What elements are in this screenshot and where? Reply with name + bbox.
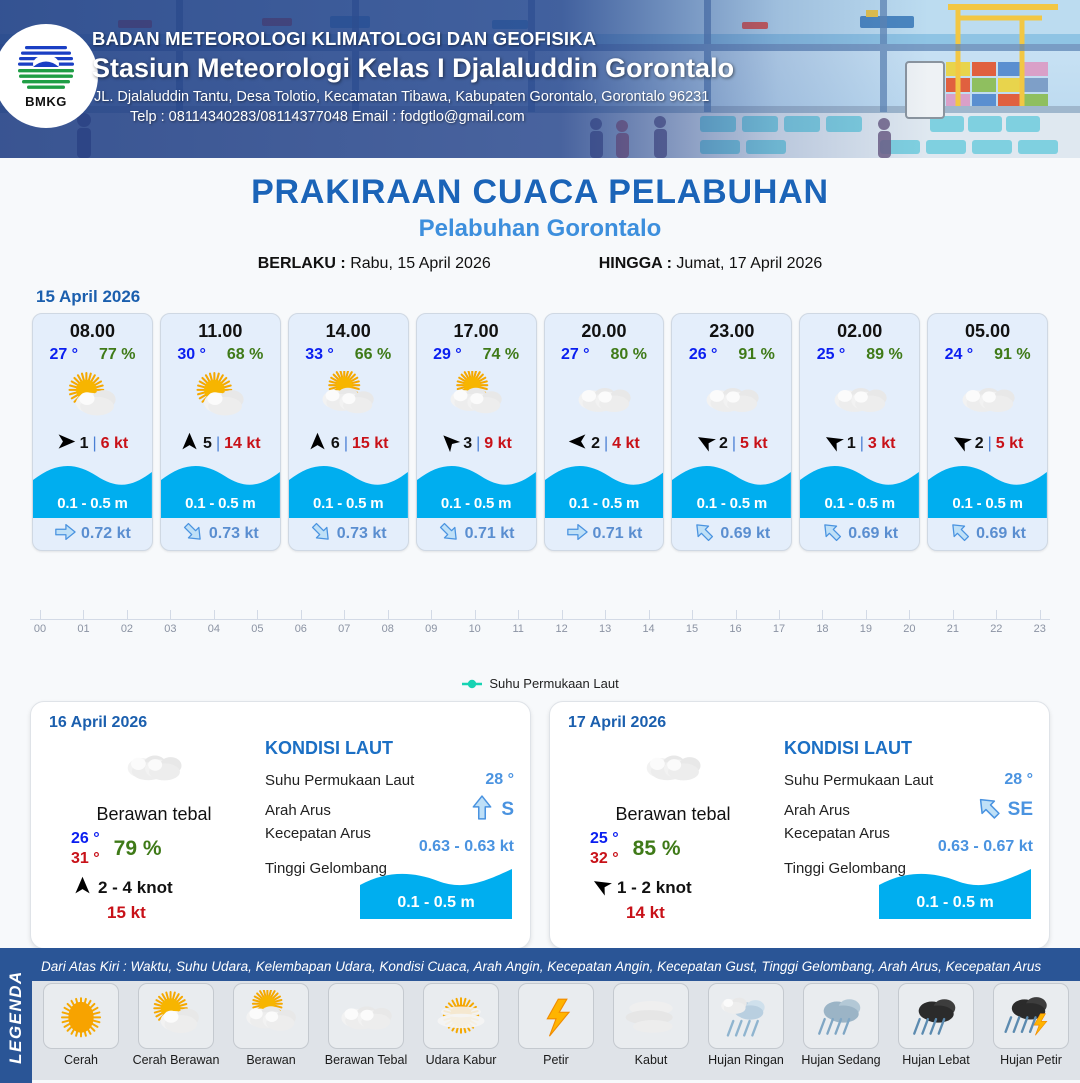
current-direction-arrow-icon — [182, 521, 204, 548]
chart-tick: 09 — [421, 619, 441, 637]
chart-tick: 03 — [160, 619, 180, 637]
hujan-lebat-icon — [898, 983, 974, 1049]
station-contact: Telp : 08114340283/08114377048 Email : f… — [130, 109, 734, 125]
card-wave-block: 0.1 - 0.5 m — [672, 460, 791, 518]
wind-gust: 15 kt — [352, 435, 388, 453]
hingga-group: HINGGA : Jumat, 17 April 2026 — [599, 255, 823, 273]
chart-tick: 19 — [856, 619, 876, 637]
legend-item-label: Kabut — [635, 1053, 668, 1067]
daily-condition: Berawan tebal — [568, 804, 778, 825]
card-wave-height: 0.1 - 0.5 m — [417, 495, 536, 512]
card-wave-height: 0.1 - 0.5 m — [161, 495, 280, 512]
legend-item-label: Berawan — [246, 1053, 295, 1067]
current-direction-row: Arah ArusS — [265, 795, 514, 825]
legend-item-label: Petir — [543, 1053, 569, 1067]
current-speed-row: Kecepatan Arus0.63 - 0.63 kt — [265, 825, 514, 856]
current-direction-row: Arah ArusSE — [784, 795, 1033, 825]
wind-scale: 2 — [975, 435, 984, 453]
current-speed: 0.73 kt — [337, 525, 387, 543]
card-wave-block: 0.1 - 0.5 m — [928, 460, 1047, 518]
daily-date: 17 April 2026 — [568, 714, 1033, 732]
card-humidity: 77 % — [99, 346, 135, 364]
chart-tick-label: 21 — [947, 623, 959, 635]
current-direction-value: SE — [1008, 799, 1033, 821]
legend-side-label: LEGENDA — [6, 970, 26, 1064]
legend-item-label: Hujan Sedang — [801, 1053, 880, 1067]
berawan-tebal-icon — [568, 734, 778, 796]
legend-item-label: Hujan Petir — [1000, 1053, 1062, 1067]
hingga-value: Jumat, 17 April 2026 — [676, 255, 822, 272]
chart-tick-label: 23 — [1034, 623, 1046, 635]
legend-item: Hujan Ringan — [701, 983, 791, 1067]
card-time: 02.00 — [800, 314, 919, 342]
daily-condition: Berawan tebal — [49, 804, 259, 825]
wind-direction-arrow-icon — [440, 432, 459, 456]
current-direction-arrow-icon — [438, 521, 460, 548]
card-wind-row: 6|15 kt — [289, 428, 408, 460]
chart-tick-label: 11 — [512, 623, 523, 635]
wind-direction-arrow-icon — [57, 432, 76, 456]
sst-legend-marker-icon — [461, 678, 483, 690]
legend-item: Berawan Tebal — [321, 983, 411, 1067]
chart-tick-label: 07 — [338, 623, 350, 635]
chart-tick-label: 06 — [295, 623, 307, 635]
chart-tick: 23 — [1030, 619, 1050, 637]
daily-temp-min: 25 ° — [590, 829, 619, 849]
daily-wave-block: 0.1 - 0.5 m — [879, 867, 1031, 919]
current-direction-arrow-icon — [693, 521, 715, 548]
current-direction-label: Arah Arus — [265, 802, 331, 819]
chart-tick-label: 04 — [208, 623, 220, 635]
chart-x-axis-ticks: 0001020304050607080910111213141516171819… — [30, 603, 1050, 637]
wind-gust: 4 kt — [612, 435, 640, 453]
cerah-berawan-icon — [138, 983, 214, 1049]
wind-direction-arrow-icon — [952, 432, 971, 456]
page-title: PRAKIRAAN CUACA PELABUHAN — [0, 173, 1080, 212]
berawan-icon — [417, 366, 536, 428]
card-temp-humidity-row: 30 °68 % — [161, 342, 280, 364]
wind-direction-arrow-icon — [696, 432, 715, 456]
wind-scale: 2 — [591, 435, 600, 453]
chart-tick: 06 — [291, 619, 311, 637]
forecast-card[interactable]: 08.0027 °77 %1|6 kt0.1 - 0.5 m0.72 kt — [32, 313, 153, 551]
current-speed-row: Kecepatan Arus0.63 - 0.67 kt — [784, 825, 1033, 856]
card-current-row: 0.69 kt — [928, 518, 1047, 550]
chart-tick: 12 — [552, 619, 572, 637]
daily-forecast-panels: 16 April 2026Berawan tebal26 °31 °79 %2 … — [0, 691, 1080, 949]
chart-legend-label: Suhu Permukaan Laut — [489, 676, 618, 691]
card-wave-height: 0.1 - 0.5 m — [289, 495, 408, 512]
wind-separator: | — [988, 435, 992, 453]
chart-tick: 10 — [465, 619, 485, 637]
legend-note: Dari Atas Kiri : Waktu, Suhu Udara, Kele… — [32, 951, 1080, 981]
current-direction-arrow-icon — [821, 521, 843, 548]
berawan-tebal-icon — [328, 983, 404, 1049]
legend-item: Cerah Berawan — [131, 983, 221, 1067]
chart-tick-label: 17 — [773, 623, 785, 635]
daily-humidity: 85 % — [633, 837, 681, 861]
berawan-tebal-icon — [545, 366, 664, 428]
daily-wind-range: 1 - 2 knot — [617, 878, 692, 898]
wind-separator: | — [476, 435, 480, 453]
wind-gust: 5 kt — [996, 435, 1024, 453]
current-speed: 0.72 kt — [81, 525, 131, 543]
daily-forecast-panel[interactable]: 17 April 2026Berawan tebal25 °32 °85 %1 … — [549, 701, 1050, 949]
daily-wave-height: 0.1 - 0.5 m — [360, 894, 512, 912]
wind-gust: 9 kt — [484, 435, 512, 453]
forecast-card[interactable]: 20.0027 °80 %2|4 kt0.1 - 0.5 m0.71 kt — [544, 313, 665, 551]
card-temperature: 25 ° — [817, 346, 846, 364]
berlaku-label: BERLAKU : — [258, 255, 346, 272]
chart-tick: 20 — [899, 619, 919, 637]
card-time: 11.00 — [161, 314, 280, 342]
daily-wind-range: 2 - 4 knot — [98, 878, 173, 898]
udara-kabur-icon — [423, 983, 499, 1049]
card-wave-height: 0.1 - 0.5 m — [545, 495, 664, 512]
sst-row: Suhu Permukaan Laut28 ° — [784, 765, 1033, 795]
card-temperature: 33 ° — [305, 346, 334, 364]
current-direction-value-group: SE — [976, 795, 1033, 825]
daily-wind-row: 1 - 2 knot — [568, 876, 778, 900]
card-current-row: 0.69 kt — [800, 518, 919, 550]
hourly-forecast-list: 08.0027 °77 %1|6 kt0.1 - 0.5 m0.72 kt11.… — [0, 313, 1080, 551]
card-wind-row: 2|4 kt — [545, 428, 664, 460]
card-temp-humidity-row: 26 °91 % — [672, 342, 791, 364]
current-speed: 0.71 kt — [465, 525, 515, 543]
card-current-row: 0.73 kt — [289, 518, 408, 550]
hujan-sedang-icon — [803, 983, 879, 1049]
chart-tick: 01 — [73, 619, 93, 637]
card-temp-humidity-row: 27 °80 % — [545, 342, 664, 364]
chart-tick: 11 — [508, 619, 528, 637]
berlaku-group: BERLAKU : Rabu, 15 April 2026 — [258, 255, 491, 273]
current-speed: 0.69 kt — [720, 525, 770, 543]
chart-tick-label: 14 — [642, 623, 654, 635]
current-direction-arrow-icon — [949, 521, 971, 548]
daily-left-column: Berawan tebal26 °31 °79 %2 - 4 knot15 kt — [49, 732, 259, 923]
card-wave-block: 0.1 - 0.5 m — [545, 460, 664, 518]
legend-item: Hujan Sedang — [796, 983, 886, 1067]
daily-temp-humidity: 26 °31 °79 % — [49, 829, 259, 869]
page-subtitle: Pelabuhan Gorontalo — [0, 215, 1080, 243]
current-direction-arrow-icon — [976, 795, 1002, 825]
card-current-row: 0.69 kt — [672, 518, 791, 550]
current-direction-arrow-icon — [310, 521, 332, 548]
card-time: 08.00 — [33, 314, 152, 342]
current-direction-value-group: S — [469, 795, 514, 825]
chart-tick: 16 — [726, 619, 746, 637]
chart-tick: 15 — [682, 619, 702, 637]
daily-wind-gust: 14 kt — [568, 903, 778, 923]
card-temperature: 30 ° — [177, 346, 206, 364]
card-time: 23.00 — [672, 314, 791, 342]
legend-item: Cerah — [36, 983, 126, 1067]
card-current-row: 0.71 kt — [545, 518, 664, 550]
hingga-label: HINGGA : — [599, 255, 672, 272]
legend-icon-list: CerahCerah BerawanBerawanBerawan TebalUd… — [36, 983, 1076, 1067]
wind-separator: | — [732, 435, 736, 453]
card-humidity: 66 % — [355, 346, 391, 364]
chart-tick-label: 00 — [34, 623, 46, 635]
wind-direction-arrow-icon — [568, 432, 587, 456]
card-temperature: 24 ° — [945, 346, 974, 364]
berawan-icon — [289, 366, 408, 428]
daily-date: 16 April 2026 — [49, 714, 514, 732]
card-wave-block: 0.1 - 0.5 m — [161, 460, 280, 518]
sea-conditions-title: KONDISI LAUT — [784, 738, 1033, 759]
chart-tick: 04 — [204, 619, 224, 637]
legend-item: Petir — [511, 983, 601, 1067]
card-temperature: 27 ° — [561, 346, 590, 364]
bmkg-emblem-icon — [15, 43, 77, 93]
chart-tick: 08 — [378, 619, 398, 637]
current-direction-arrow-icon — [566, 521, 588, 548]
card-wave-height: 0.1 - 0.5 m — [33, 495, 152, 512]
hujan-petir-icon — [993, 983, 1069, 1049]
card-wind-row: 1|6 kt — [33, 428, 152, 460]
daily-forecast-panel[interactable]: 16 April 2026Berawan tebal26 °31 °79 %2 … — [30, 701, 531, 949]
legend-side-tab: LEGENDA — [0, 951, 32, 1083]
sst-value: 28 ° — [1004, 771, 1033, 789]
sea-conditions-title: KONDISI LAUT — [265, 738, 514, 759]
hujan-ringan-icon — [708, 983, 784, 1049]
legend-item-label: Berawan Tebal — [325, 1053, 407, 1067]
chart-tick: 21 — [943, 619, 963, 637]
chart-tick: 22 — [986, 619, 1006, 637]
station-name: Stasiun Meteorologi Kelas I Djalaluddin … — [92, 53, 734, 84]
card-wave-block: 0.1 - 0.5 m — [289, 460, 408, 518]
wind-scale: 5 — [203, 435, 212, 453]
card-temp-humidity-row: 24 °91 % — [928, 342, 1047, 364]
card-temp-humidity-row: 29 °74 % — [417, 342, 536, 364]
berlaku-value: Rabu, 15 April 2026 — [350, 255, 491, 272]
legend-item-label: Udara Kabur — [426, 1053, 497, 1067]
chart-tick-label: 12 — [556, 623, 568, 635]
card-wind-row: 2|5 kt — [672, 428, 791, 460]
chart-tick-label: 05 — [251, 623, 263, 635]
chart-tick-label: 19 — [860, 623, 872, 635]
card-humidity: 74 % — [483, 346, 519, 364]
kabut-icon — [613, 983, 689, 1049]
wind-separator: | — [604, 435, 608, 453]
page-header: BMKG BADAN METEOROLOGI KLIMATOLOGI DAN G… — [0, 0, 1080, 158]
card-temp-humidity-row: 27 °77 % — [33, 342, 152, 364]
card-wave-block: 0.1 - 0.5 m — [33, 460, 152, 518]
daily-temp-min: 26 ° — [71, 829, 100, 849]
card-humidity: 91 % — [738, 346, 774, 364]
sst-label: Suhu Permukaan Laut — [784, 772, 933, 789]
wind-separator: | — [860, 435, 864, 453]
wind-direction-arrow-icon — [308, 432, 327, 456]
daily-wave-height: 0.1 - 0.5 m — [879, 894, 1031, 912]
chart-tick: 18 — [812, 619, 832, 637]
chart-tick-label: 08 — [382, 623, 394, 635]
card-wind-row: 5|14 kt — [161, 428, 280, 460]
wind-direction-arrow-icon — [180, 432, 199, 456]
wind-direction-arrow-icon — [824, 432, 843, 456]
wind-gust: 6 kt — [101, 435, 129, 453]
chart-tick-label: 15 — [686, 623, 698, 635]
daily-temp-range: 25 °32 ° — [590, 829, 619, 869]
card-wind-row: 3|9 kt — [417, 428, 536, 460]
chart-tick-label: 13 — [599, 623, 611, 635]
card-wind-row: 1|3 kt — [800, 428, 919, 460]
card-wave-height: 0.1 - 0.5 m — [800, 495, 919, 512]
cerah-icon — [43, 983, 119, 1049]
sst-chart: 0001020304050607080910111213141516171819… — [0, 603, 1080, 669]
chart-tick-label: 20 — [903, 623, 915, 635]
current-speed: 0.71 kt — [593, 525, 643, 543]
card-wave-height: 0.1 - 0.5 m — [672, 495, 791, 512]
daily-sea-conditions: KONDISI LAUTSuhu Permukaan Laut28 °Arah … — [778, 732, 1033, 923]
chart-tick: 07 — [334, 619, 354, 637]
card-time: 17.00 — [417, 314, 536, 342]
current-direction-arrow-icon — [54, 521, 76, 548]
current-direction-label: Arah Arus — [784, 802, 850, 819]
wind-separator: | — [344, 435, 348, 453]
forecast-card[interactable]: 14.0033 °66 %6|15 kt0.1 - 0.5 m0.73 kt — [288, 313, 409, 551]
card-time: 05.00 — [928, 314, 1047, 342]
berawan-tebal-icon — [800, 366, 919, 428]
wind-direction-arrow-icon — [73, 876, 92, 900]
card-humidity: 89 % — [866, 346, 902, 364]
wind-gust: 14 kt — [224, 435, 260, 453]
wind-direction-arrow-icon — [592, 876, 611, 900]
daily-body: Berawan tebal26 °31 °79 %2 - 4 knot15 kt… — [49, 732, 514, 923]
wind-separator: | — [93, 435, 97, 453]
berawan-tebal-icon — [49, 734, 259, 796]
wind-gust: 3 kt — [868, 435, 896, 453]
wind-scale: 6 — [331, 435, 340, 453]
card-temp-humidity-row: 33 °66 % — [289, 342, 408, 364]
chart-legend: Suhu Permukaan Laut — [0, 676, 1080, 691]
current-speed: 0.69 kt — [976, 525, 1026, 543]
legend-bar: LEGENDA Dari Atas Kiri : Waktu, Suhu Uda… — [0, 948, 1080, 1080]
current-direction-arrow-icon — [469, 795, 495, 825]
chart-tick: 02 — [117, 619, 137, 637]
forecast-card[interactable]: 23.0026 °91 %2|5 kt0.1 - 0.5 m0.69 kt — [671, 313, 792, 551]
daily-wind-gust: 15 kt — [49, 903, 259, 923]
card-current-row: 0.71 kt — [417, 518, 536, 550]
forecast-card[interactable]: 17.0029 °74 %3|9 kt0.1 - 0.5 m0.71 kt — [416, 313, 537, 551]
forecast-date-heading: 15 April 2026 — [36, 287, 1080, 307]
current-direction-value: S — [501, 799, 514, 821]
card-wave-block: 0.1 - 0.5 m — [417, 460, 536, 518]
legend-item: Kabut — [606, 983, 696, 1067]
daily-humidity: 79 % — [114, 837, 162, 861]
berawan-tebal-icon — [672, 366, 791, 428]
wind-scale: 2 — [719, 435, 728, 453]
chart-tick: 17 — [769, 619, 789, 637]
chart-tick-label: 03 — [164, 623, 176, 635]
card-wind-row: 2|5 kt — [928, 428, 1047, 460]
petir-icon — [518, 983, 594, 1049]
daily-wave-block: 0.1 - 0.5 m — [360, 867, 512, 919]
legend-item-label: Cerah Berawan — [133, 1053, 220, 1067]
legend-item-label: Cerah — [64, 1053, 98, 1067]
card-temp-humidity-row: 25 °89 % — [800, 342, 919, 364]
chart-tick-label: 18 — [816, 623, 828, 635]
cerah-berawan-icon — [161, 366, 280, 428]
card-humidity: 68 % — [227, 346, 263, 364]
forecast-card[interactable]: 11.0030 °68 %5|14 kt0.1 - 0.5 m0.73 kt — [160, 313, 281, 551]
cerah-berawan-icon — [33, 366, 152, 428]
current-speed: 0.69 kt — [848, 525, 898, 543]
card-wave-height: 0.1 - 0.5 m — [928, 495, 1047, 512]
chart-tick-label: 02 — [121, 623, 133, 635]
berawan-icon — [233, 983, 309, 1049]
forecast-card[interactable]: 02.0025 °89 %1|3 kt0.1 - 0.5 m0.69 kt — [799, 313, 920, 551]
legend-item: Berawan — [226, 983, 316, 1067]
chart-tick: 13 — [595, 619, 615, 637]
header-text-block: BADAN METEOROLOGI KLIMATOLOGI DAN GEOFIS… — [92, 28, 734, 125]
wind-gust: 5 kt — [740, 435, 768, 453]
card-humidity: 91 % — [994, 346, 1030, 364]
station-address: JL. Djalaluddin Tantu, Desa Tolotio, Kec… — [94, 89, 734, 105]
legend-item: Hujan Lebat — [891, 983, 981, 1067]
daily-temp-max: 32 ° — [590, 849, 619, 869]
daily-wind-row: 2 - 4 knot — [49, 876, 259, 900]
card-current-row: 0.73 kt — [161, 518, 280, 550]
chart-tick-label: 01 — [77, 623, 89, 635]
daily-sea-conditions: KONDISI LAUTSuhu Permukaan Laut28 °Arah … — [259, 732, 514, 923]
chart-tick-label: 16 — [729, 623, 741, 635]
bmkg-logo-text: BMKG — [25, 94, 67, 109]
card-time: 20.00 — [545, 314, 664, 342]
current-speed: 0.73 kt — [209, 525, 259, 543]
chart-tick: 00 — [30, 619, 50, 637]
agency-name: BADAN METEOROLOGI KLIMATOLOGI DAN GEOFIS… — [92, 28, 734, 50]
chart-tick: 14 — [639, 619, 659, 637]
chart-tick-label: 10 — [469, 623, 481, 635]
legend-item-label: Hujan Lebat — [902, 1053, 969, 1067]
card-temperature: 26 ° — [689, 346, 718, 364]
legend-item: Hujan Petir — [986, 983, 1076, 1067]
wind-scale: 3 — [463, 435, 472, 453]
card-temperature: 27 ° — [49, 346, 78, 364]
validity-row: BERLAKU : Rabu, 15 April 2026 HINGGA : J… — [0, 255, 1080, 273]
daily-temp-max: 31 ° — [71, 849, 100, 869]
chart-tick: 05 — [247, 619, 267, 637]
chart-tick-label: 09 — [425, 623, 437, 635]
berawan-tebal-icon — [928, 366, 1047, 428]
sst-row: Suhu Permukaan Laut28 ° — [265, 765, 514, 795]
sst-value: 28 ° — [485, 771, 514, 789]
card-humidity: 80 % — [610, 346, 646, 364]
card-current-row: 0.72 kt — [33, 518, 152, 550]
daily-left-column: Berawan tebal25 °32 °85 %1 - 2 knot14 kt — [568, 732, 778, 923]
daily-temp-humidity: 25 °32 °85 % — [568, 829, 778, 869]
legend-item-label: Hujan Ringan — [708, 1053, 784, 1067]
chart-tick-label: 22 — [990, 623, 1002, 635]
daily-temp-range: 26 °31 ° — [71, 829, 100, 869]
card-time: 14.00 — [289, 314, 408, 342]
sst-label: Suhu Permukaan Laut — [265, 772, 414, 789]
daily-body: Berawan tebal25 °32 °85 %1 - 2 knot14 kt… — [568, 732, 1033, 923]
card-wave-block: 0.1 - 0.5 m — [800, 460, 919, 518]
legend-item: Udara Kabur — [416, 983, 506, 1067]
wind-scale: 1 — [80, 435, 89, 453]
wind-scale: 1 — [847, 435, 856, 453]
forecast-card[interactable]: 05.0024 °91 %2|5 kt0.1 - 0.5 m0.69 kt — [927, 313, 1048, 551]
card-temperature: 29 ° — [433, 346, 462, 364]
wind-separator: | — [216, 435, 220, 453]
